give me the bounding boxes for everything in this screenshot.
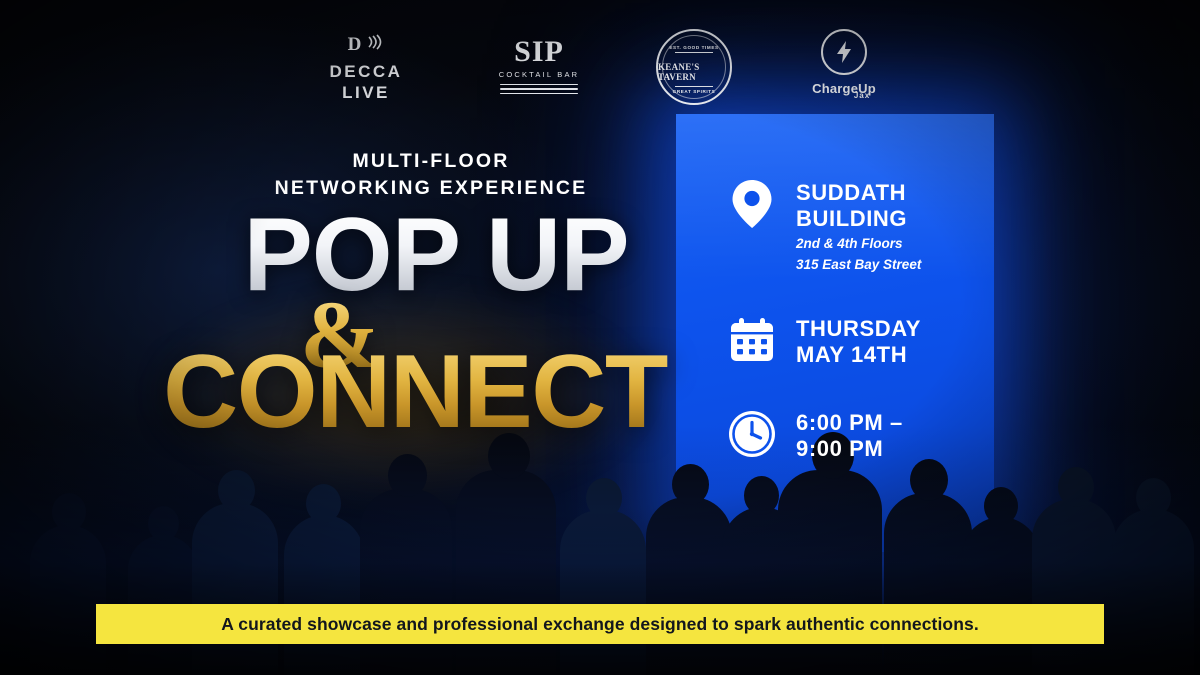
event-details: SUDDATH BUILDING 2nd & 4th Floors 315 Ea… (726, 178, 1006, 502)
vignette-overlay (0, 0, 1200, 675)
location-address: 315 East Bay Street (796, 256, 921, 274)
location-title-line-1: SUDDATH (796, 180, 921, 206)
date-line-2: MAY 14TH (796, 342, 921, 368)
date-text: THURSDAY MAY 14TH (796, 314, 921, 368)
tagline-text: A curated showcase and professional exch… (221, 614, 979, 635)
detail-location: SUDDATH BUILDING 2nd & 4th Floors 315 Ea… (726, 178, 1006, 274)
location-floors: 2nd & 4th Floors (796, 235, 921, 253)
location-title-line-2: BUILDING (796, 206, 921, 232)
time-line-1: 6:00 PM – (796, 410, 903, 436)
clock-icon (726, 408, 778, 460)
calendar-icon (726, 314, 778, 366)
detail-time: 6:00 PM – 9:00 PM (726, 408, 1006, 462)
location-text: SUDDATH BUILDING 2nd & 4th Floors 315 Ea… (796, 178, 921, 274)
location-pin-icon (726, 178, 778, 230)
time-line-2: 9:00 PM (796, 436, 903, 462)
time-text: 6:00 PM – 9:00 PM (796, 408, 903, 462)
event-flyer: D DECCA LIVE SIP COCKTAIL BAR EST. GOOD … (0, 0, 1200, 675)
tagline-banner: A curated showcase and professional exch… (96, 604, 1104, 644)
detail-date: THURSDAY MAY 14TH (726, 314, 1006, 368)
date-line-1: THURSDAY (796, 316, 921, 342)
